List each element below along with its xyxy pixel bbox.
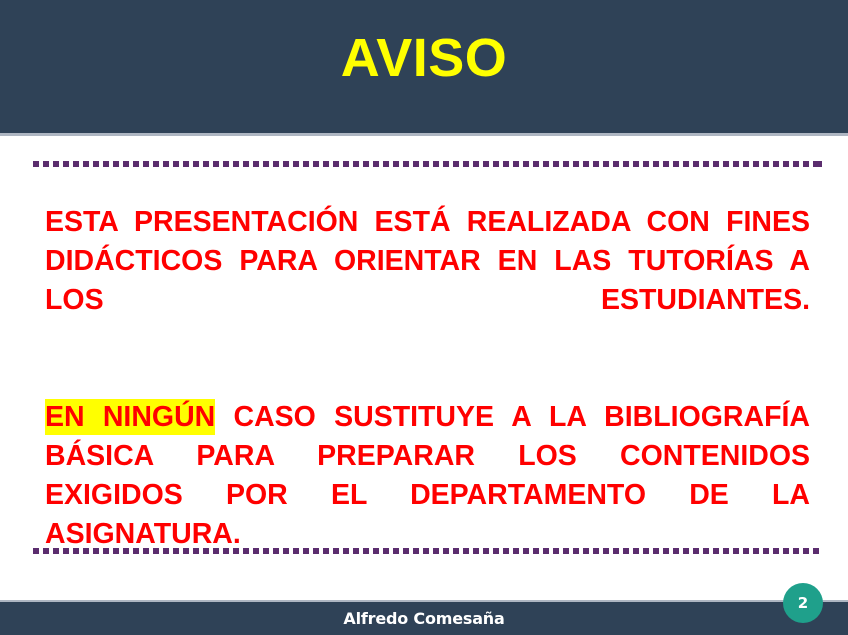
notice-text-block: ESTA PRESENTACIÓN ESTÁ REALIZADA CON FIN… bbox=[45, 203, 810, 593]
page-title: AVISO bbox=[0, 0, 848, 133]
header-underline-divider bbox=[0, 133, 848, 136]
footer-author-name: Alfredo Comesaña bbox=[0, 602, 848, 635]
page-number-badge: 2 bbox=[783, 583, 823, 623]
notice-box: ESTA PRESENTACIÓN ESTÁ REALIZADA CON FIN… bbox=[33, 161, 822, 554]
highlighted-phrase: EN NINGÚN bbox=[45, 401, 215, 433]
notice-box-border-right bbox=[816, 161, 822, 554]
notice-paragraph-2: EN NINGÚN CASO SUSTITUYE A LA BIBLIOGRAF… bbox=[45, 398, 810, 593]
notice-box-border-top bbox=[33, 161, 822, 167]
paragraph-spacer bbox=[45, 359, 810, 398]
notice-paragraph-1: ESTA PRESENTACIÓN ESTÁ REALIZADA CON FIN… bbox=[45, 203, 810, 359]
notice-box-border-left bbox=[33, 161, 39, 554]
